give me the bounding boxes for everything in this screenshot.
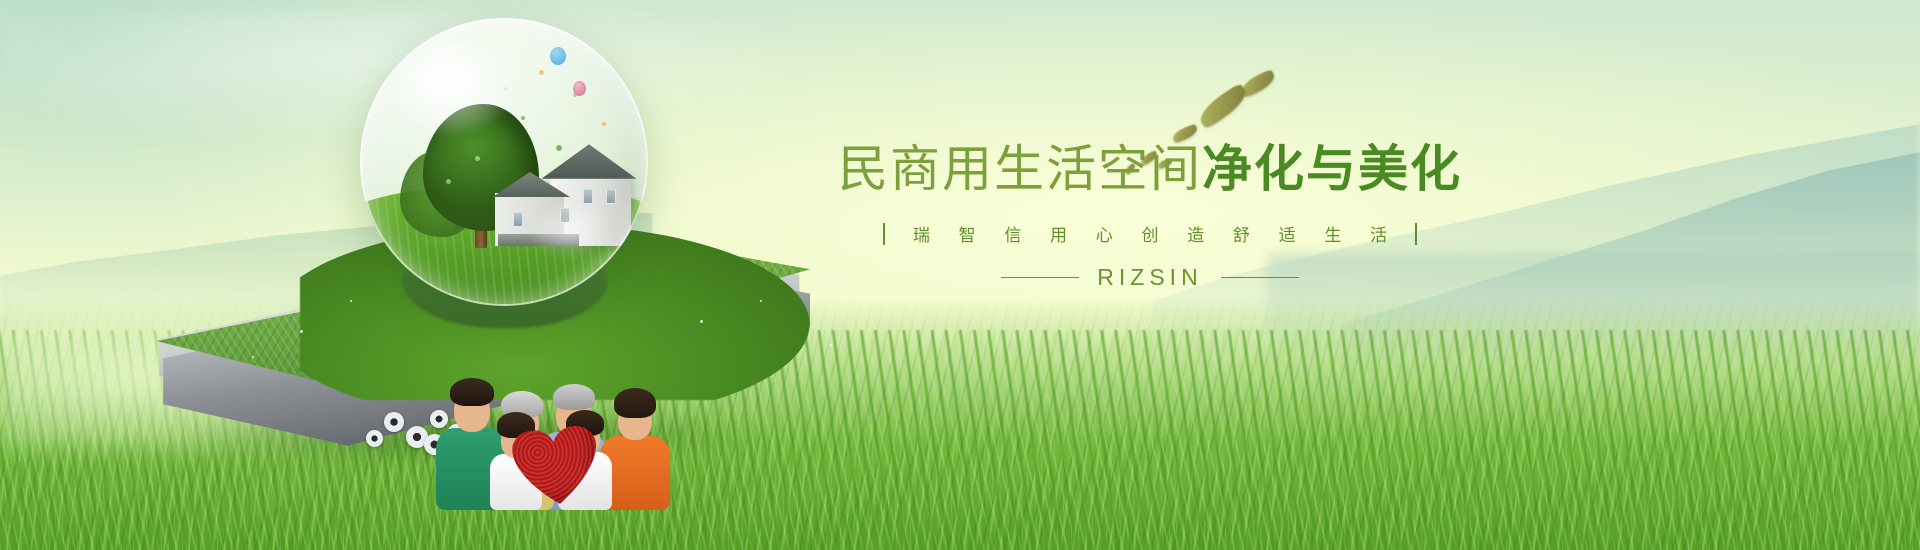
hair bbox=[614, 388, 656, 418]
brand-name: RIZSIN bbox=[1097, 264, 1202, 291]
daisy bbox=[384, 412, 404, 432]
family-group bbox=[430, 310, 690, 510]
sphere-rim bbox=[360, 18, 648, 306]
banner-copy: 民商用生活空间净化与美化 瑞 智 信 用 心 创 造 舒 适 生 活 RIZSI… bbox=[770, 140, 1530, 291]
glass-sphere bbox=[360, 18, 648, 306]
subtitle-text: 瑞 智 信 用 心 创 造 舒 适 生 活 bbox=[901, 221, 1399, 246]
headline-bold-part: 净化与美化 bbox=[1202, 141, 1462, 197]
sparkle bbox=[700, 320, 703, 323]
hair bbox=[450, 378, 494, 406]
brand-rule-right bbox=[1221, 277, 1299, 278]
headline: 民商用生活空间净化与美化 bbox=[770, 140, 1530, 199]
sparkle bbox=[252, 356, 254, 358]
subtitle-row: 瑞 智 信 用 心 创 造 舒 适 生 活 bbox=[770, 221, 1530, 246]
headline-light-part: 民商用生活空间 bbox=[838, 141, 1202, 197]
subtitle-divider-left bbox=[883, 223, 885, 245]
daisy bbox=[366, 430, 383, 447]
sparkle bbox=[830, 344, 832, 346]
hero-banner: 民商用生活空间净化与美化 瑞 智 信 用 心 创 造 舒 适 生 活 RIZSI… bbox=[0, 0, 1920, 550]
sparkle bbox=[300, 330, 303, 333]
brand-row: RIZSIN bbox=[770, 264, 1530, 291]
sparkle bbox=[760, 300, 762, 302]
sparkle bbox=[350, 300, 352, 302]
subtitle-divider-right bbox=[1415, 223, 1417, 245]
brand-rule-left bbox=[1001, 277, 1079, 278]
